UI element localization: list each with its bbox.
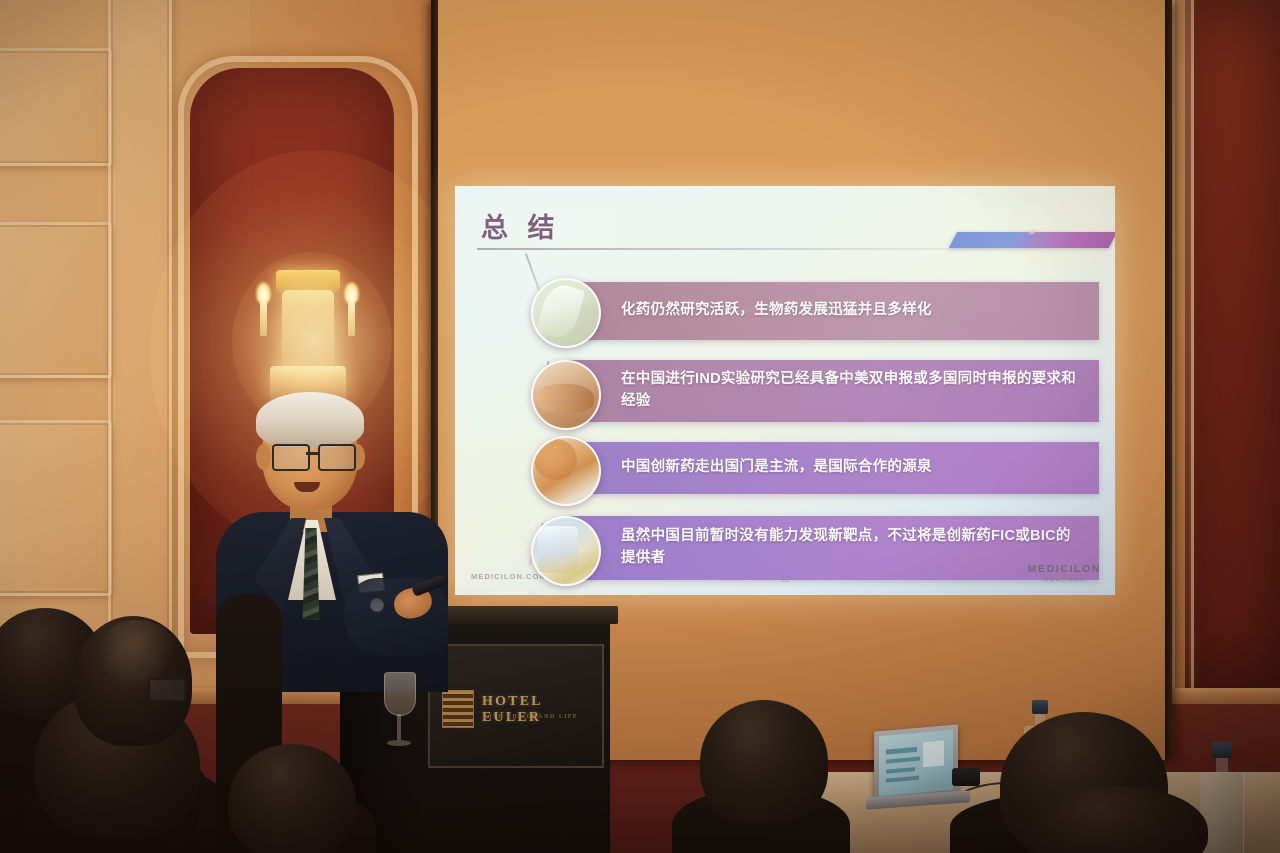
logo-subtitle-cn: 美迪西生物医药 xyxy=(1028,576,1101,583)
glass-bowl xyxy=(384,672,416,716)
bullet-bar-3: 中国创新药走出国门是主流，是国际合作的源泉 xyxy=(567,442,1099,494)
slide-footer-url: MEDICILON.COM xyxy=(471,572,547,581)
wall-molding-panel-top-left xyxy=(0,48,112,166)
eyeglasses-bridge xyxy=(306,452,318,455)
glass-foot xyxy=(387,740,411,746)
laptop-screen-image-block xyxy=(923,740,944,767)
bullet-bar-1: 化药仍然研究活跃，生物药发展迅猛并且多样化 xyxy=(567,282,1099,340)
presenter-hair xyxy=(256,392,364,448)
sconce-flame-left xyxy=(256,282,271,304)
logo-wordmark: MEDICILON xyxy=(1028,563,1101,575)
eyeglasses-lens-left xyxy=(272,444,310,471)
sconce-flame-right xyxy=(344,282,359,304)
bullet-text-3: 中国创新药走出国门是主流，是国际合作的源泉 xyxy=(621,457,932,479)
bullet-text-1: 化药仍然研究活跃，生物药发展迅猛并且多样化 xyxy=(621,300,932,322)
screen-edge-right xyxy=(1165,0,1172,760)
bullet-thumbnail-1 xyxy=(531,278,601,348)
wall-molding-panel-mid-left xyxy=(0,222,112,378)
wall-molding-pilaster xyxy=(108,0,172,698)
sconce-crystal-drops xyxy=(282,290,334,374)
laptop-screen-line-3 xyxy=(886,767,914,774)
water-bottle-cap-2 xyxy=(1212,742,1232,758)
bullet-text-4: 虽然中国目前暂时没有能力发现新靶点，不过将是创新药FIC或BIC的提供者 xyxy=(621,526,1085,570)
laptop-screen xyxy=(879,730,953,796)
podium-hotel-plaque: HOTEL EULER LIVE THE GRAND LIFE xyxy=(428,644,604,768)
water-glass-on-podium xyxy=(384,672,414,750)
bullet-thumbnail-4 xyxy=(531,516,601,586)
bullet-text-2: 在中国进行IND实验研究已经具备中美双申报或多国同时申报的要求和经验 xyxy=(621,369,1085,413)
bullet-bar-4: 虽然中国目前暂时没有能力发现新靶点，不过将是创新药FIC或BIC的提供者 xyxy=(567,516,1099,580)
table-microphone xyxy=(952,768,980,786)
hotel-name: HOTEL EULER xyxy=(482,694,602,726)
laptop-screen-line-2 xyxy=(886,757,920,764)
wall-sconce-fixture xyxy=(252,262,364,412)
audience-head-right-1 xyxy=(700,700,828,824)
slide-accent-chevron xyxy=(949,232,1115,248)
bullet-bar-2: 在中国进行IND实验研究已经具备中美双申报或多国同时申报的要求和经验 xyxy=(567,360,1099,422)
slide-title-underline xyxy=(477,248,997,250)
hotel-tagline: LIVE THE GRAND LIFE xyxy=(484,714,578,720)
projected-slide: 总 结 化药仍然研究活跃，生物药发展迅猛并且多样化 在中国进行IND实验研究已经… xyxy=(455,186,1115,595)
sconce-candle-right xyxy=(348,302,355,336)
audience-eyeglasses-3 xyxy=(148,678,186,702)
wall-molding-panel-lower-left xyxy=(0,420,112,596)
audience-head-4 xyxy=(228,744,356,853)
sconce-candle-left xyxy=(260,302,267,336)
presenter-ear-left xyxy=(256,444,271,470)
right-wall-molding xyxy=(1172,0,1194,696)
slide-title: 总 结 xyxy=(481,206,561,245)
hotel-building-icon xyxy=(442,690,474,728)
bullet-thumbnail-3 xyxy=(531,436,601,506)
laptop-screen-line-4 xyxy=(886,776,919,783)
laptop-lid xyxy=(874,724,958,801)
laptop-screen-line-1 xyxy=(886,747,917,754)
right-red-wall-panel xyxy=(1185,0,1280,690)
slide-page-number: 61 xyxy=(781,575,790,584)
water-bottle-cap-1 xyxy=(1032,700,1048,714)
conference-photo-scene: 总 结 化药仍然研究活跃，生物药发展迅猛并且多样化 在中国进行IND实验研究已经… xyxy=(0,0,1280,853)
eyeglasses-lens-right xyxy=(318,444,356,471)
slide-brand-logo: MEDICILON 美迪西生物医药 xyxy=(1028,563,1101,583)
sconce-crown xyxy=(276,270,340,292)
bullet-thumbnail-2 xyxy=(531,360,601,430)
glass-stem xyxy=(397,714,401,740)
